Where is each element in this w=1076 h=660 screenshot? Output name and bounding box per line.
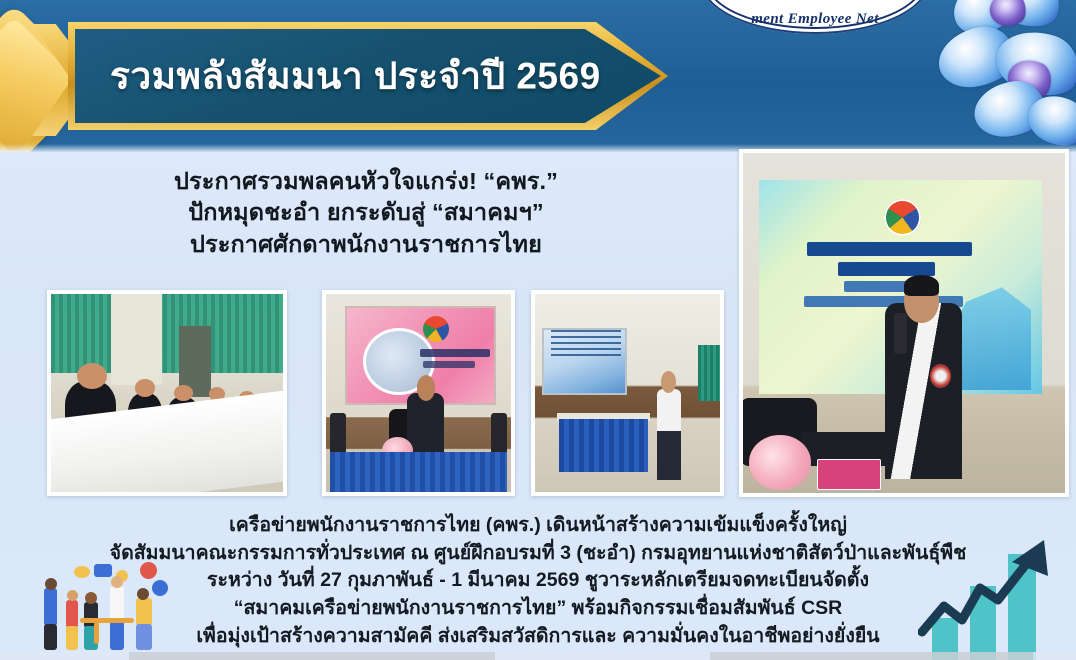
photo-presenter-hall (531, 290, 724, 496)
trend-arrow-icon (918, 528, 1068, 660)
photo-main-speaker-image (743, 153, 1065, 493)
blue-orchid-flowers (934, 0, 1076, 152)
headline-line-3: ประกาศศักดาพนักงานราชการไทย (96, 229, 636, 260)
photo-committee-table (47, 290, 287, 496)
top-banner: ment Employee Net รวมพลังสัมมนา ประจำปี … (0, 0, 1076, 152)
body-line-5: เพื่อมุ่งเป้าสร้างความสามัคคี ส่งเสริมสว… (60, 623, 1016, 651)
photo-committee-table-image (51, 294, 283, 492)
title-ribbon: รวมพลังสัมมนา ประจำปี 2569 (68, 22, 668, 130)
headline-line-2: ปักหมุดชะอำ ยกระดับสู่ “สมาคมฯ” (96, 197, 636, 228)
photo-speaker-pink-slide (322, 290, 515, 496)
bottom-edge-strip (0, 652, 1076, 660)
headline-block: ประกาศรวมพลคนหัวใจแกร่ง! “คพร.” ปักหมุดช… (96, 166, 636, 260)
body-line-3: ระหว่าง วันที่ 27 กุมภาพันธ์ - 1 มีนาคม … (60, 567, 1016, 595)
photo-speaker-pink-slide-image (326, 294, 511, 492)
seal-text: ment Employee Net (700, 11, 930, 28)
body-text-block: เครือข่ายพนักงานราชการไทย (คพร.) เดินหน้… (60, 512, 1016, 650)
banner-title: รวมพลังสัมมนา ประจำปี 2569 (68, 47, 668, 106)
body-line-1: เครือข่ายพนักงานราชการไทย (คพร.) เดินหน้… (60, 512, 1016, 540)
body-line-4: “สมาคมเครือข่ายพนักงานราชการไทย” พร้อมกิ… (60, 595, 1016, 623)
poster-canvas: ment Employee Net รวมพลังสัมมนา ประจำปี … (0, 0, 1076, 660)
photo-presenter-hall-image (535, 294, 720, 492)
government-employee-network-seal: ment Employee Net (700, 0, 930, 34)
photo-main-speaker (739, 149, 1069, 497)
body-line-2: จัดสัมมนาคณะกรรมการทั่วประเทศ ณ ศูนย์ฝึก… (60, 540, 1016, 568)
people-collaboration-illustration (36, 562, 172, 658)
headline-line-1: ประกาศรวมพลคนหัวใจแกร่ง! “คพร.” (96, 166, 636, 197)
growth-bar-chart-arrow (918, 528, 1068, 660)
